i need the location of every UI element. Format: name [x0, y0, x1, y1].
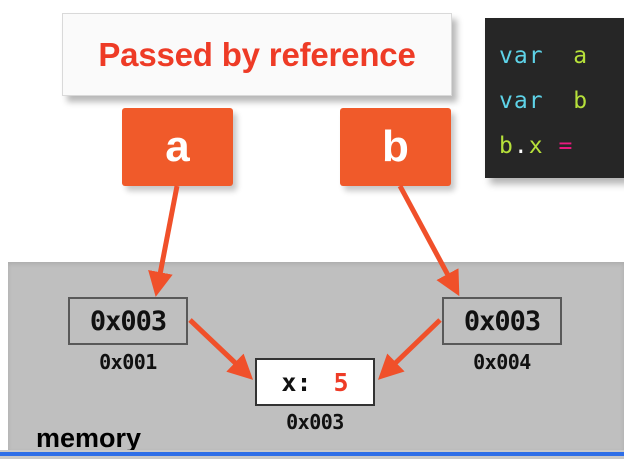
code-line-1: var a — [499, 34, 624, 79]
code-operator-assign: = — [558, 133, 573, 159]
memory-cell-right: 0x003 — [442, 297, 562, 345]
page-title: Passed by reference — [98, 36, 415, 74]
memory-cell-right-value: 0x003 — [464, 306, 540, 337]
memory-object-value: 5 — [334, 368, 349, 397]
variable-box-a-label: a — [165, 125, 189, 169]
code-line-3: b.x = — [499, 124, 624, 169]
variable-box-b: b — [340, 108, 451, 186]
code-object-b: b — [499, 133, 514, 159]
code-property-x: x — [529, 133, 544, 159]
code-panel: var a var b b.x = — [485, 18, 624, 178]
memory-cell-left-address: 0x001 — [68, 350, 188, 374]
memory-cell-left-value: 0x003 — [90, 306, 166, 337]
code-identifier-b: b — [573, 88, 588, 114]
code-space-2 — [544, 88, 559, 114]
code-line-2: var b — [499, 79, 624, 124]
variable-box-b-label: b — [382, 125, 409, 169]
progress-bar[interactable] — [0, 450, 624, 459]
code-keyword-var-2: var — [499, 88, 544, 114]
memory-object-key: x: — [281, 368, 311, 397]
memory-object-address: 0x003 — [255, 410, 375, 434]
code-identifier-a: a — [573, 43, 588, 69]
title-banner: Passed by reference — [62, 13, 452, 96]
memory-cell-left: 0x003 — [68, 297, 188, 345]
variable-box-a: a — [122, 108, 233, 186]
memory-object-cell: x:5 — [255, 358, 375, 406]
memory-cell-right-address: 0x004 — [442, 350, 562, 374]
code-space — [544, 43, 559, 69]
slide-canvas: Passed by reference var a var b b.x = a … — [0, 0, 624, 459]
code-keyword-var: var — [499, 43, 544, 69]
code-dot: . — [514, 133, 529, 159]
progress-bar-fill — [0, 452, 624, 456]
